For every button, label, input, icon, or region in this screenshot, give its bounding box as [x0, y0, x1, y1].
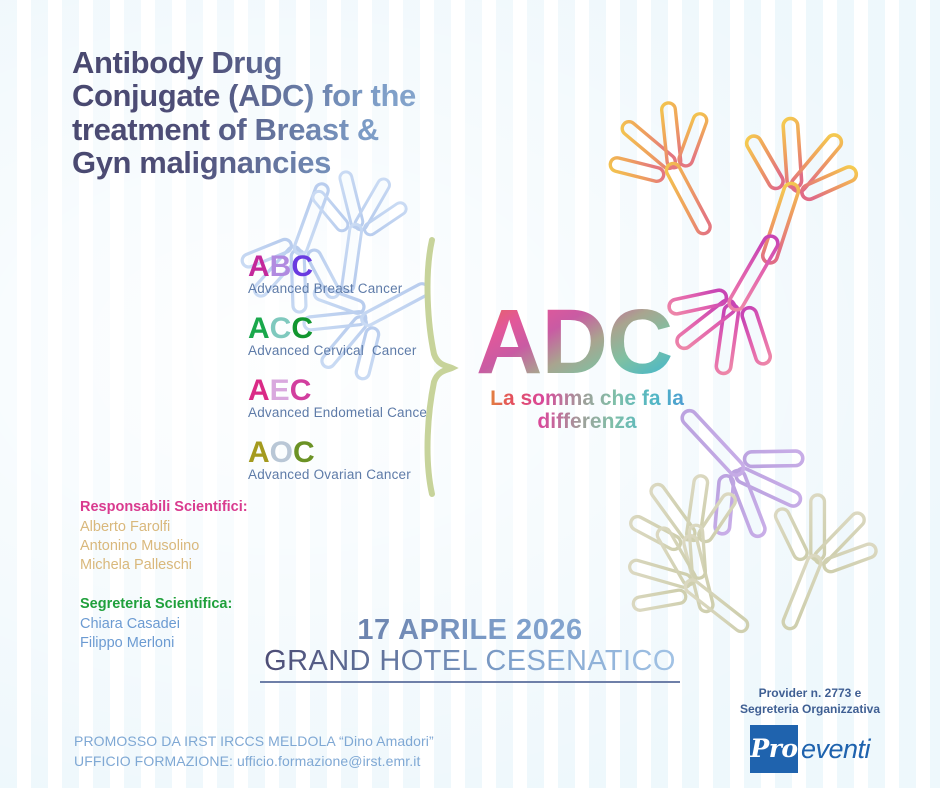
provider-block: Provider n. 2773 e Segreteria Organizzat… [700, 686, 920, 773]
event-venue-wrapper: GRAND HOTEL CESENATICO [0, 645, 940, 683]
adc-logo-acronym: ADC [476, 300, 706, 385]
scientific-lead-name: Antonino Musolino [80, 537, 248, 556]
scientific-leads-heading: Responsabili Scientifici: [80, 498, 248, 518]
acronym-letter: A [248, 250, 270, 283]
event-date: 17 APRILE 2026 [0, 614, 940, 647]
acronym-letter: O [270, 436, 293, 469]
footer-promoter-line: PROMOSSO DA IRST IRCCS MELDOLA “Dino Ama… [74, 732, 434, 752]
scientific-lead-name: Michela Palleschi [80, 556, 248, 575]
adc-logo-tagline: La somma che fa la differenza [476, 387, 698, 434]
credits-spacer [80, 575, 248, 595]
provider-number-line: Provider n. 2773 e [700, 686, 920, 702]
adc-logo: ADC La somma che fa la differenza [476, 300, 706, 434]
acronym-letter: A [248, 312, 270, 345]
acronym-letter: C [293, 436, 315, 469]
scientific-lead-name: Alberto Farolfi [80, 518, 248, 537]
acronym-letter: C [291, 312, 313, 345]
secretariat-heading: Segreteria Scientifica: [80, 595, 248, 615]
event-venue: GRAND HOTEL CESENATICO [260, 645, 680, 683]
acronym-letter: C [291, 250, 313, 283]
curly-brace-icon [418, 236, 466, 498]
acronym-letter: C [270, 312, 292, 345]
acronym-letter: C [290, 374, 312, 407]
proeventi-logo: Pro eventi [700, 725, 920, 773]
acronym-letter: A [248, 374, 270, 407]
provider-secretariat-line: Segreteria Organizzativa [700, 702, 920, 718]
acronym-letter: E [270, 374, 290, 407]
acronym-letter: B [270, 250, 292, 283]
page-title: Antibody Drug Conjugate (ADC) for the tr… [72, 46, 542, 180]
proeventi-logo-mark-text: Pro [750, 736, 797, 761]
footer-promoter-block: PROMOSSO DA IRST IRCCS MELDOLA “Dino Ama… [74, 732, 434, 771]
proeventi-logo-mark: Pro [750, 725, 798, 773]
acronym-letter: A [248, 436, 270, 469]
footer-contact-line: UFFICIO FORMAZIONE: ufficio.formazione@i… [74, 752, 434, 772]
